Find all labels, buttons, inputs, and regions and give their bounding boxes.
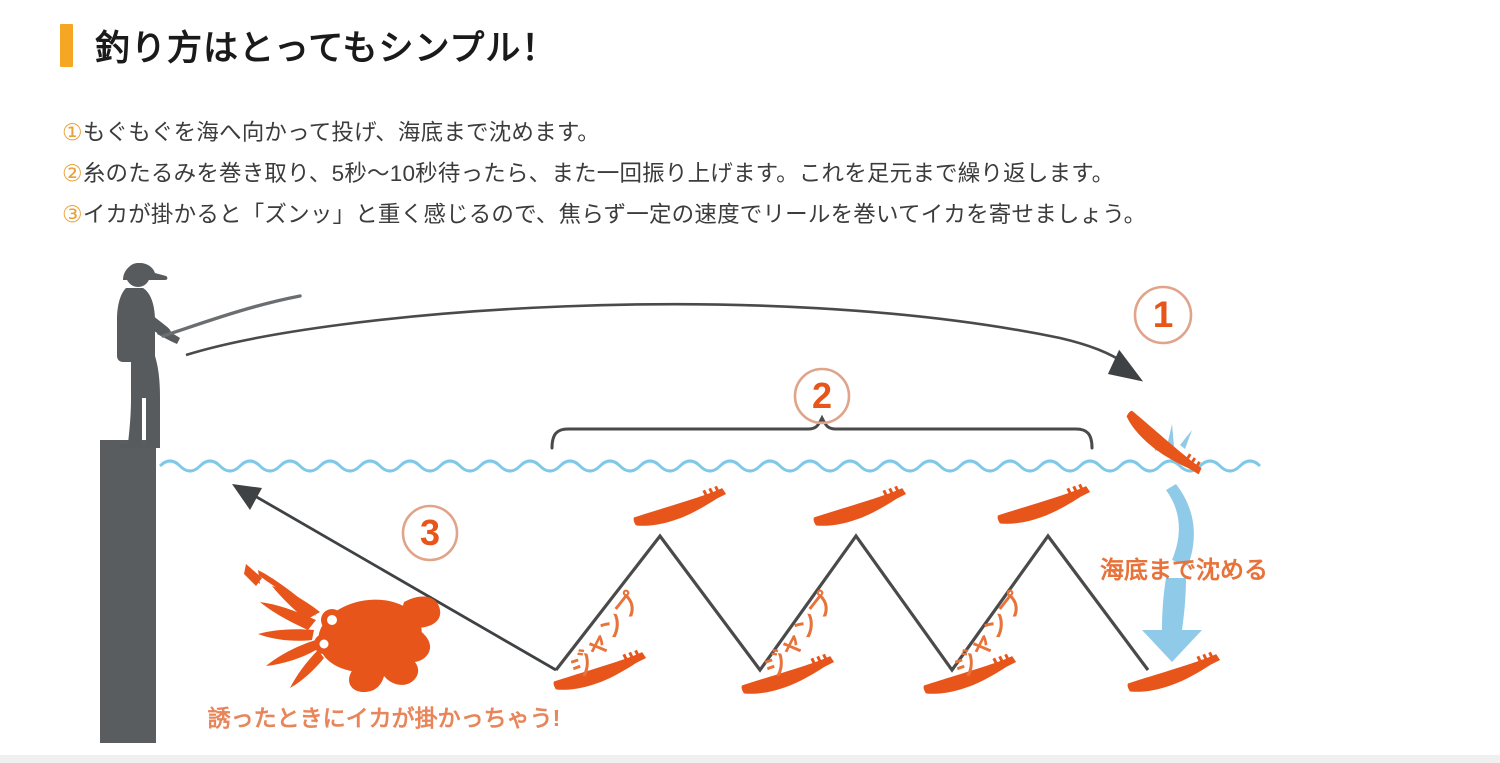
- step-line-2: ②糸のたるみを巻き取り、5秒〜10秒待ったら、また一回振り上げます。これを足元ま…: [62, 153, 1442, 194]
- step-list: ①もぐもぐを海へ向かって投げ、海底まで沈めます。 ②糸のたるみを巻き取り、5秒〜…: [62, 112, 1442, 235]
- step-badge-3-label: 3: [420, 512, 440, 553]
- step-line-1: ①もぐもぐを海へ向かって投げ、海底まで沈めます。: [62, 112, 1442, 153]
- catch-caption: 誘ったときにイカが掛かっちゃう!: [208, 705, 561, 731]
- step-text-2: 糸のたるみを巻き取り、5秒〜10秒待ったら、また一回振り上げます。これを足元まで…: [83, 161, 1115, 186]
- pier-structure: [100, 440, 156, 743]
- bottom-divider: [0, 755, 1500, 763]
- egi-lure-peak-3: [998, 484, 1091, 524]
- fishing-technique-diagram: ジャンプ ジャンプ ジャンプ 海底まで沈める 誘ったときにイカが掛かっちゃう! …: [0, 248, 1500, 763]
- step-badge-1-label: 1: [1153, 294, 1174, 335]
- cast-trajectory-arc: [186, 304, 1126, 364]
- step-text-1: もぐもぐを海へ向かって投げ、海底まで沈めます。: [83, 120, 600, 145]
- sink-label: 海底まで沈める: [1100, 556, 1268, 584]
- step-badge-2-label: 2: [812, 375, 832, 416]
- angler-silhouette: [117, 263, 180, 448]
- step-badge-2: 2: [795, 369, 849, 423]
- step-text-3: イカが掛かると「ズンッ」と重く感じるので、焦らず一定の速度でリールを巻いてイカを…: [83, 202, 1147, 227]
- step-badge-1: 1: [1135, 287, 1191, 343]
- fishing-guide-page: 釣り方はとってもシンプル！ ①もぐもぐを海へ向かって投げ、海底まで沈めます。 ②…: [0, 0, 1500, 763]
- fishing-rod: [163, 296, 300, 336]
- egi-lure-entry: [1125, 394, 1205, 491]
- jigging-zigzag-path: [556, 536, 1148, 670]
- page-heading: 釣り方はとってもシンプル！: [60, 20, 557, 71]
- step-line-3: ③イカが掛かると「ズンッ」と重く感じるので、焦らず一定の速度でリールを巻いてイカ…: [62, 194, 1442, 235]
- page-title: 釣り方はとってもシンプル！: [95, 20, 557, 71]
- step-marker-1: ①: [62, 119, 83, 145]
- water-surface: [160, 461, 1260, 471]
- egi-lure-peak-2: [814, 486, 907, 526]
- heading-accent-bar: [60, 24, 73, 67]
- squid-illustration: [244, 564, 440, 692]
- cast-arrow-head: [1108, 349, 1149, 382]
- step-badge-3: 3: [403, 506, 457, 560]
- egi-lure-peak-1: [634, 486, 727, 526]
- step-marker-3: ③: [62, 201, 83, 227]
- step-marker-2: ②: [62, 160, 83, 186]
